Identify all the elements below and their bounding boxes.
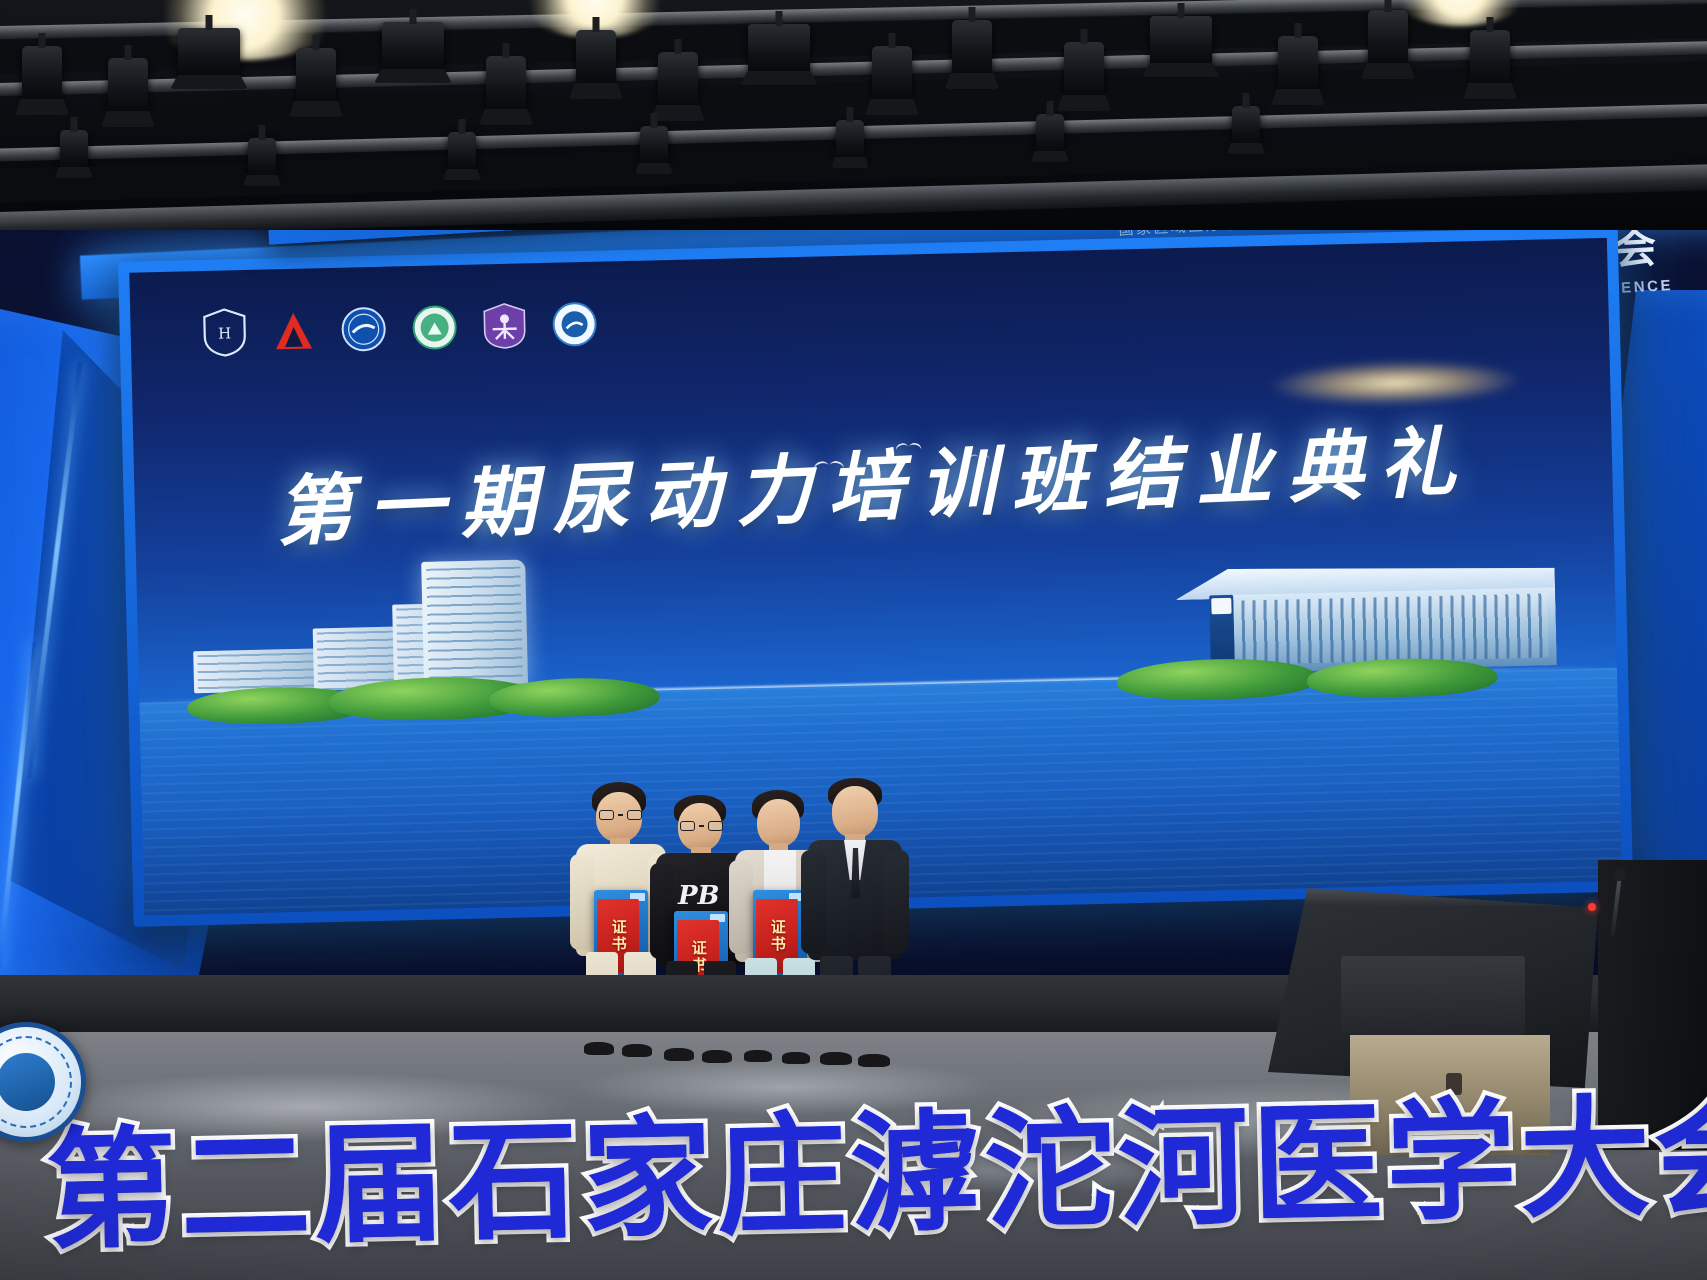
shoe (622, 1044, 652, 1057)
certificate-label: 证书 (769, 919, 785, 953)
stage-light (60, 130, 88, 170)
stage-light (576, 30, 616, 88)
stage-light (382, 22, 444, 72)
stage-light (872, 46, 912, 104)
stage-light (108, 58, 148, 116)
status-indicator (1588, 903, 1596, 911)
health-commission-logo (411, 304, 458, 351)
shoe (664, 1048, 694, 1061)
ceiling-truss-rig (0, 0, 1707, 230)
svg-text:H: H (218, 324, 232, 342)
shoe (744, 1050, 772, 1062)
stage-light (248, 138, 276, 178)
wooden-crate (1350, 1035, 1550, 1155)
shoe (702, 1050, 732, 1063)
stage-light (178, 28, 240, 78)
arm-right (884, 850, 909, 954)
stage-light (1470, 30, 1510, 88)
arm-left (801, 850, 826, 954)
stage-light (1064, 42, 1104, 100)
led-logo-row: H (202, 300, 598, 357)
cus-society-logo (482, 302, 527, 349)
glasses-icon (599, 810, 642, 820)
glasses-icon (680, 821, 723, 831)
shoe (584, 1042, 614, 1055)
stage-light (748, 24, 810, 74)
stage-light (658, 52, 698, 110)
head (832, 786, 878, 838)
stage-photo: 国家区域医疗中心建设筑基强体系·新质生产力赋能医院高质量发展 第二届石家庄滹沱河… (0, 0, 1707, 1280)
stage-light (1150, 16, 1212, 66)
shoe (858, 1054, 890, 1067)
certificate-label: 证书 (610, 919, 626, 953)
arm-left (729, 860, 753, 954)
stage-light (836, 120, 864, 160)
arm-left (650, 863, 674, 959)
shoe (820, 1052, 852, 1065)
shoe (782, 1052, 810, 1064)
stage-light (296, 48, 336, 106)
medical-association-logo (340, 306, 387, 353)
stage-light (1232, 106, 1260, 146)
urology-branch-logo (551, 301, 598, 348)
stage-light (1278, 36, 1318, 94)
stage-light (1368, 10, 1408, 68)
stage-light (22, 46, 62, 104)
stage-light (952, 20, 992, 78)
stage-light (640, 126, 668, 166)
shirt-print: PB (678, 881, 720, 911)
led-main-title: 第一期尿动力培训班结业典礼 (133, 394, 1614, 567)
stage-light (448, 132, 476, 172)
stage-light (486, 56, 526, 114)
head (757, 799, 800, 847)
arm-left (570, 854, 594, 950)
hospital-crest-logo: H (202, 308, 247, 357)
stage-light (1036, 114, 1064, 154)
triangle-red-logo (271, 308, 316, 353)
